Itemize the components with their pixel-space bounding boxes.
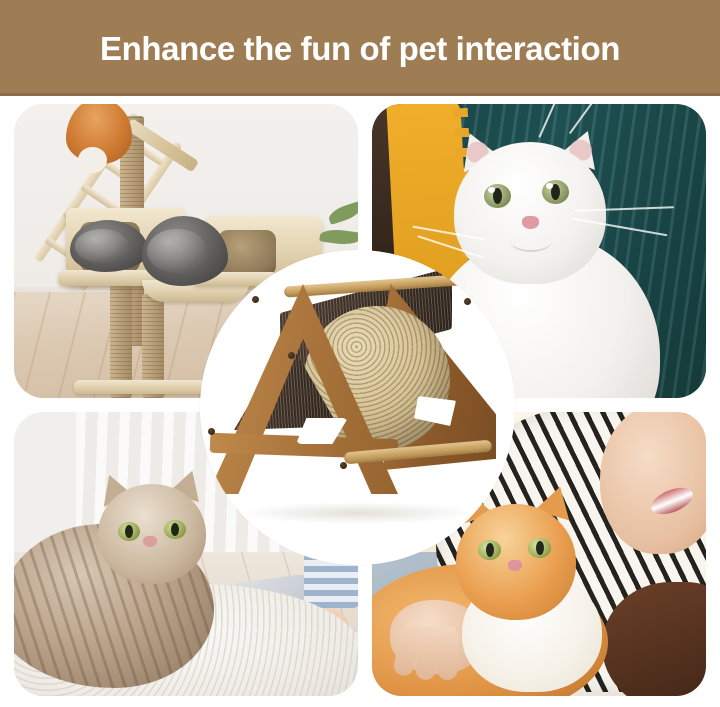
- screw: [288, 352, 295, 359]
- woman-face: [600, 412, 706, 554]
- tabby-cat-head: [98, 484, 206, 584]
- cat-eye-right: [528, 538, 551, 558]
- cat-eye-left: [118, 522, 140, 541]
- banner-title: Enhance the fun of pet interaction: [100, 32, 620, 65]
- cat-eye-right: [542, 180, 569, 204]
- screw: [464, 298, 471, 305]
- cat-scratcher-product: [200, 250, 515, 565]
- marketing-image: Enhance the fun of pet interaction: [0, 0, 720, 707]
- cat-nose: [143, 536, 157, 547]
- screw: [340, 462, 347, 469]
- product-hero-circle: [200, 250, 515, 565]
- finger: [437, 626, 459, 681]
- plant-leaf: [319, 227, 358, 246]
- screw: [208, 428, 215, 435]
- cat-orange: [66, 104, 132, 164]
- screw: [252, 296, 259, 303]
- cat-nose: [522, 216, 539, 229]
- cat-eye-right: [164, 520, 186, 539]
- cat-mouth: [510, 230, 552, 252]
- header-banner: Enhance the fun of pet interaction: [0, 0, 720, 96]
- plant-leaf: [327, 201, 358, 225]
- product-shadow: [240, 502, 476, 524]
- tree-base: [74, 380, 214, 394]
- cat-eye-left: [484, 184, 511, 208]
